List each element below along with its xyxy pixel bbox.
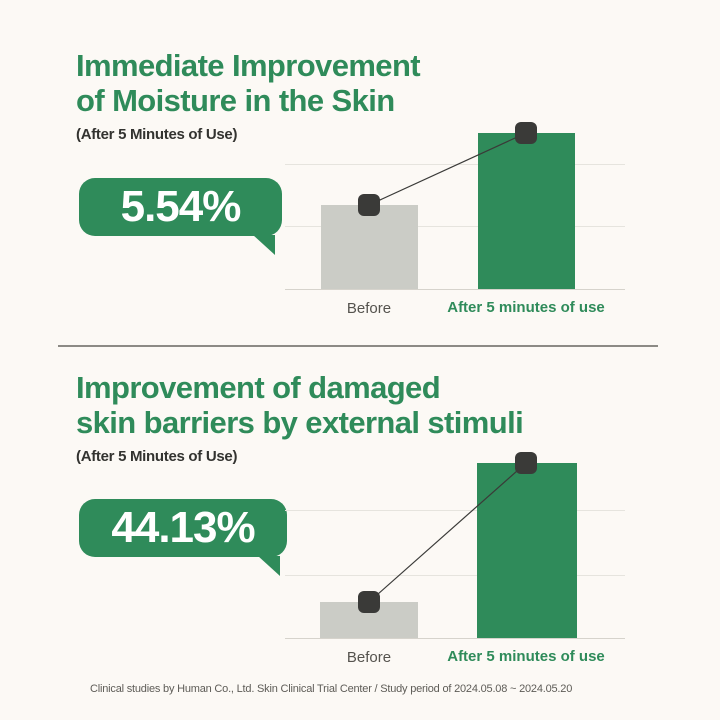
footer-note: Clinical studies by Human Co., Ltd. Skin… — [90, 683, 572, 695]
category-label-before: Before — [319, 649, 419, 666]
data-marker-after-barrier — [515, 452, 537, 474]
data-marker-before-barrier — [358, 591, 380, 613]
category-label-after: After 5 minutes of use — [426, 648, 626, 665]
